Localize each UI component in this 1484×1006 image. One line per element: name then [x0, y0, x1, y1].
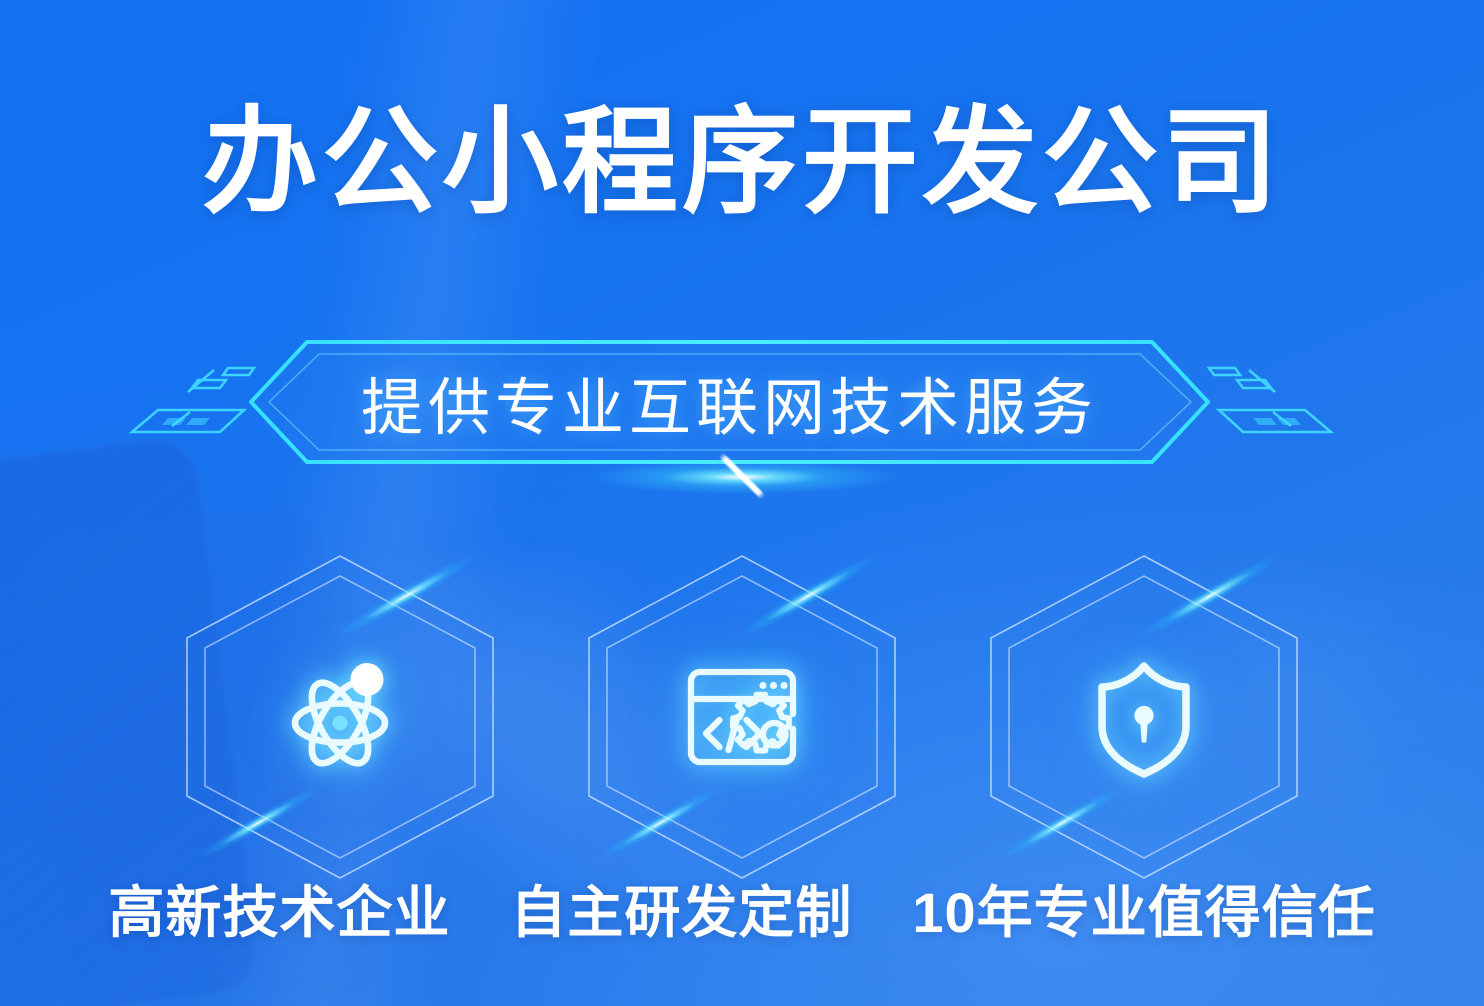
- tech-bracket-right-icon: [1205, 362, 1335, 453]
- shield-lock-icon: [1069, 642, 1219, 792]
- tech-bracket-left-icon: [128, 362, 258, 453]
- atom-icon: [265, 642, 415, 792]
- feature-item-trusted-experience[interactable]: [979, 552, 1309, 882]
- feature-item-high-tech[interactable]: [175, 552, 505, 882]
- feature-label-custom-development: 自主研发定制: [510, 884, 852, 943]
- subtitle-text: 提供专业互联网技术服务: [247, 338, 1212, 466]
- feature-label-trusted-experience: 10年专业值得信任: [912, 884, 1375, 943]
- feature-label-high-tech: 高新技术企业: [108, 884, 450, 943]
- feature-label-row: 高新技术企业 自主研发定制 10年专业值得信任: [0, 884, 1484, 943]
- promo-banner: 办公小程序开发公司: [0, 0, 1484, 1006]
- code-window-gear-icon: [667, 642, 817, 792]
- feature-item-custom-development[interactable]: [577, 552, 907, 882]
- page-title: 办公小程序开发公司: [0, 104, 1484, 220]
- feature-hexagon-row: [0, 552, 1484, 882]
- subtitle-banner: 提供专业互联网技术服务: [0, 336, 1484, 476]
